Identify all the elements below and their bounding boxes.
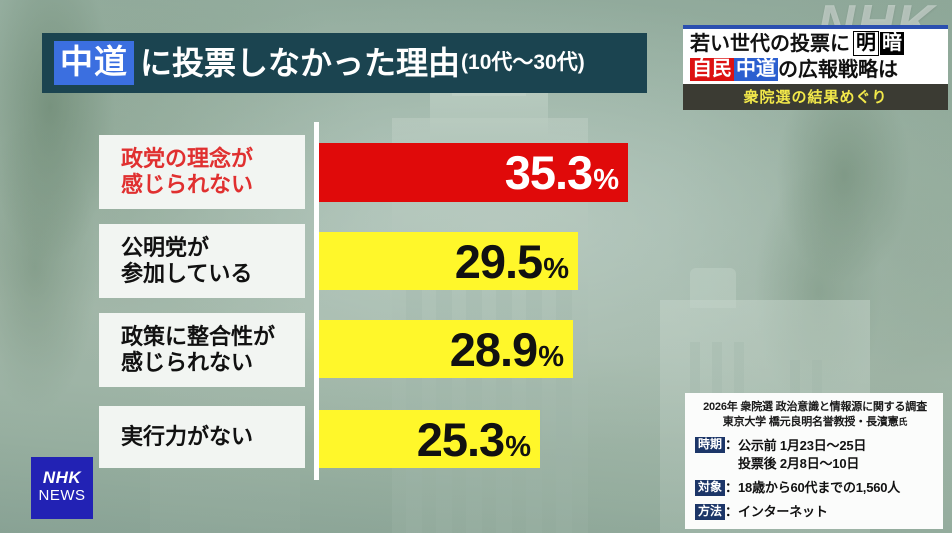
bar-3-value-percent: % xyxy=(538,343,564,372)
nhk-news-logo-nhk: NHK xyxy=(43,469,81,486)
bar-2: 29.5 % xyxy=(319,232,578,290)
bar-2-value-percent: % xyxy=(543,255,569,284)
survey-colon-method: ： xyxy=(725,504,738,520)
bar-1-value-number: 35.3 xyxy=(505,149,592,196)
category-label-2: 公明党が 参加している xyxy=(99,224,305,298)
bar-1: 35.3 % xyxy=(319,143,628,202)
bar-4-value-percent: % xyxy=(505,433,531,462)
category-label-4-line1: 実行力がない xyxy=(121,424,305,450)
bar-2-value-number: 29.5 xyxy=(455,238,542,285)
bar-3-value: 28.9 % xyxy=(450,326,564,373)
survey-row-period: 時期 ： 公示前 1月23日〜25日 投票後 2月8日〜10日 xyxy=(695,437,935,473)
survey-row-target: 対象 ： 18歳から60代までの1,560人 xyxy=(695,480,935,497)
survey-tag-period: 時期 xyxy=(695,437,725,453)
survey-heading-line2-suffix: 氏 xyxy=(898,417,907,427)
survey-heading-line2-text: 東京大学 橋元良明名誉教授・長濱憲 xyxy=(723,416,899,428)
bar-1-value: 35.3 % xyxy=(505,149,619,196)
nhk-news-logo-news: NEWS xyxy=(39,486,86,506)
nhk-news-logo: NHK NEWS xyxy=(31,457,93,519)
bar-4-value: 25.3 % xyxy=(417,416,531,463)
survey-value-period-line1: 公示前 1月23日〜25日 xyxy=(738,438,866,453)
category-label-3-line1: 政策に整合性が xyxy=(121,324,305,350)
bar-3-value-number: 28.9 xyxy=(450,326,537,373)
category-label-3: 政策に整合性が 感じられない xyxy=(99,313,305,387)
survey-colon-period: ： xyxy=(725,437,738,453)
bar-2-value: 29.5 % xyxy=(455,238,569,285)
survey-tag-target: 対象 xyxy=(695,480,725,496)
bar-4: 25.3 % xyxy=(319,410,540,468)
bar-3: 28.9 % xyxy=(319,320,573,378)
category-label-1-line1: 政党の理念が xyxy=(121,146,305,172)
survey-tag-method: 方法 xyxy=(695,504,725,520)
survey-value-method: インターネット xyxy=(738,504,828,521)
survey-value-period: 公示前 1月23日〜25日 投票後 2月8日〜10日 xyxy=(738,437,866,473)
category-label-2-line1: 公明党が xyxy=(121,235,305,261)
survey-info-box: 2026年 衆院選 政治意識と情報源に関する調査 東京大学 橋元良明名誉教授・長… xyxy=(685,393,943,529)
survey-value-period-line2: 投票後 2月8日〜10日 xyxy=(738,456,859,471)
category-label-3-line2: 感じられない xyxy=(121,350,305,376)
category-label-1: 政党の理念が 感じられない xyxy=(99,135,305,209)
survey-value-target: 18歳から60代までの1,560人 xyxy=(738,480,900,497)
category-label-1-line2: 感じられない xyxy=(121,172,305,198)
survey-colon-target: ： xyxy=(725,480,738,496)
survey-heading-line2: 東京大学 橋元良明名誉教授・長濱憲氏 xyxy=(695,415,935,430)
category-label-2-line2: 参加している xyxy=(121,261,305,287)
survey-heading-line1: 2026年 衆院選 政治意識と情報源に関する調査 xyxy=(695,400,935,415)
survey-row-method: 方法 ： インターネット xyxy=(695,504,935,521)
category-label-4: 実行力がない xyxy=(99,406,305,468)
bar-4-value-number: 25.3 xyxy=(417,416,504,463)
bar-1-value-percent: % xyxy=(593,166,619,195)
